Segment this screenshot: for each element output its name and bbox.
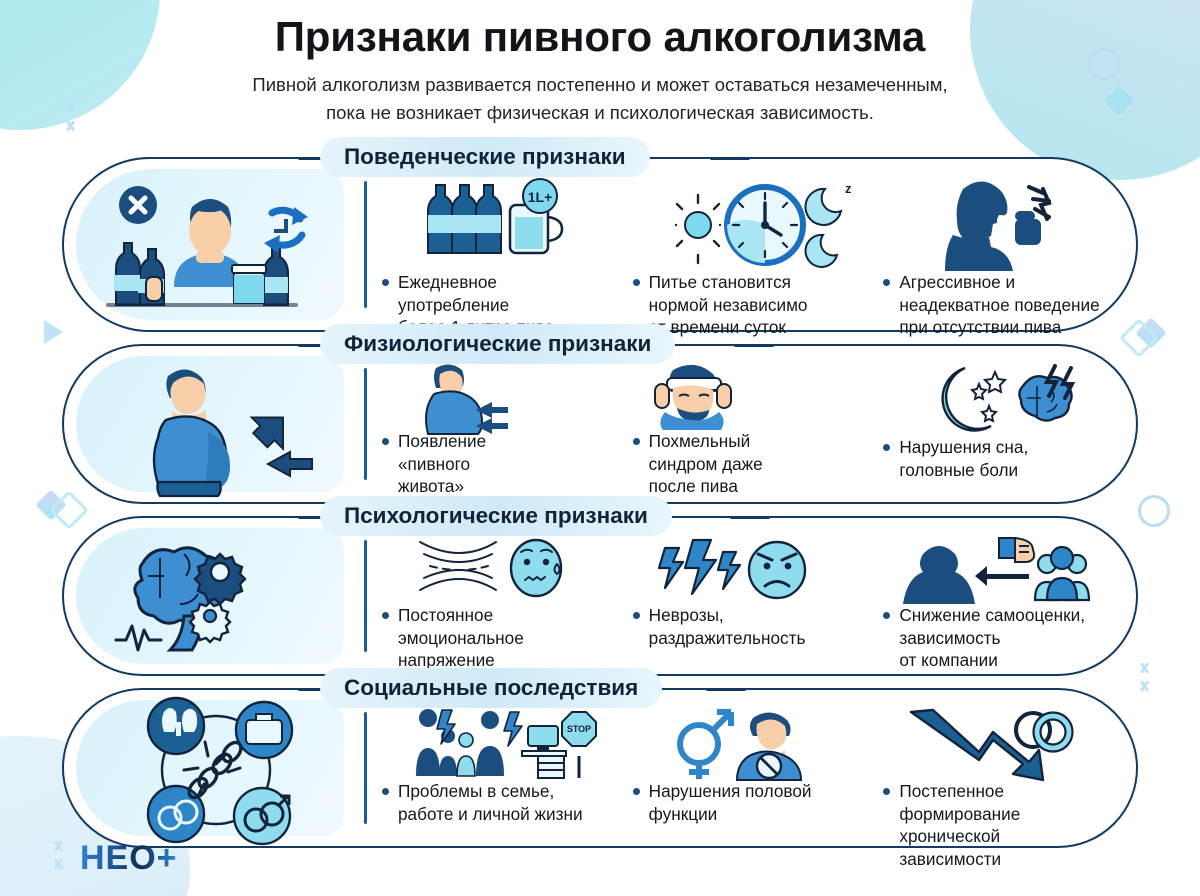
broken-chain-life-circles-icon — [76, 700, 344, 840]
section-title-physiological: Физиологические признаки — [320, 324, 675, 364]
bullet-row: Проблемы в семье, работе и личной жизни — [382, 780, 621, 825]
bullet-dot — [633, 788, 640, 795]
bullet-row: Постоянное эмоциональное напряжение — [382, 604, 621, 672]
bullet-row: Агрессивное и неадекватное поведение при… — [883, 271, 1122, 339]
thumbs-down-crowd-icon — [883, 534, 1122, 604]
triangle-icon — [44, 320, 63, 344]
moon-stars-brain-icon — [883, 362, 1122, 436]
sun-clock-moon-icon: z — [633, 175, 872, 271]
bullet-dot — [382, 279, 389, 286]
svg-text:z: z — [845, 181, 852, 196]
pill-line-right — [710, 157, 750, 160]
svg-text:1L+: 1L+ — [528, 189, 553, 205]
lightning-angry-face-icon — [633, 534, 872, 604]
family-conflict-work-stop-icon: STOP — [382, 706, 621, 780]
man-with-beer-bottles-icon — [76, 169, 344, 324]
item-text: Появление «пивного живота» — [398, 430, 486, 498]
brand-logo: НЕО+ — [80, 839, 178, 878]
section-divider — [364, 181, 367, 308]
item-text: Похмельный синдром даже после пива — [649, 430, 763, 498]
section-card: Появление «пивного живота» — [62, 344, 1138, 504]
section-card: Постоянное эмоциональное напряжение — [62, 516, 1138, 676]
down-arrow-rings-icon — [883, 706, 1122, 780]
item-text: Снижение самооценки, зависимость от комп… — [899, 604, 1085, 672]
list-item: Постепенное формирование хронической зав… — [877, 706, 1128, 840]
item-text: Неврозы, раздражительность — [649, 604, 806, 649]
list-item: Нарушения сна, головные боли — [877, 362, 1128, 496]
section-items: 1L+ Ежедневное употребление более 1 литр… — [376, 175, 1128, 324]
brain-gears-pulse-icon — [76, 528, 344, 668]
list-item: 1L+ Ежедневное употребление более 1 литр… — [376, 175, 627, 324]
bullet-dot — [883, 444, 890, 451]
list-item: Снижение самооценки, зависимость от комп… — [877, 534, 1128, 668]
item-text: Нарушения половой функции — [649, 780, 812, 825]
shouting-man-fist-icon — [883, 175, 1122, 271]
item-text: Агрессивное и неадекватное поведение при… — [899, 271, 1099, 339]
item-text: Нарушения сна, головные боли — [899, 436, 1028, 481]
section-physiological: Появление «пивного живота» — [62, 344, 1138, 504]
bullet-dot — [883, 612, 890, 619]
subtitle-line-1: Пивной алкоголизм развивается постепенно… — [150, 71, 1050, 99]
section-divider — [364, 712, 367, 824]
section-title-social: Социальные последствия — [320, 668, 662, 708]
section-card: 1L+ Ежедневное употребление более 1 литр… — [62, 157, 1138, 332]
beer-belly-arrows-icon — [382, 362, 621, 430]
bullet-row: Снижение самооценки, зависимость от комп… — [883, 604, 1122, 672]
section-items: Постоянное эмоциональное напряжение — [376, 534, 1128, 668]
bullet-row: Постепенное формирование хронической зав… — [883, 780, 1122, 871]
item-text: Постепенное формирование хронической зав… — [899, 780, 1020, 871]
bullet-dot — [883, 279, 890, 286]
pill-line-right — [706, 688, 746, 691]
item-text: Постоянное эмоциональное напряжение — [398, 604, 524, 672]
svg-text:STOP: STOP — [567, 724, 591, 734]
gender-symbol-blocked-man-icon — [633, 706, 872, 780]
item-text: Проблемы в семье, работе и личной жизни — [398, 780, 583, 825]
beer-bottles-1l-mug-icon: 1L+ — [382, 175, 621, 271]
section-title-psychological: Психологические признаки — [320, 496, 672, 536]
bullet-row: Нарушения сна, головные боли — [883, 436, 1122, 481]
hero-panel — [76, 169, 344, 320]
item-text: Питье становится нормой независимо от вр… — [649, 271, 808, 339]
list-item: STOP Проблемы в семье, работе и личной ж… — [376, 706, 627, 840]
infographic-canvas: Признаки пивного алкоголизма Пивной алко… — [0, 0, 1200, 896]
subtitle-line-2: пока не возникает физическая и психологи… — [150, 99, 1050, 127]
list-item: Нарушения половой функции — [627, 706, 878, 840]
list-item: z Питье становится нормой независимо от … — [627, 175, 878, 324]
section-divider — [364, 540, 367, 652]
section-title-behavioral: Поведенческие признаки — [320, 137, 650, 177]
bullet-dot — [382, 788, 389, 795]
page-title: Признаки пивного алкоголизма — [0, 14, 1200, 59]
hero-panel — [76, 700, 344, 836]
list-item: Постоянное эмоциональное напряжение — [376, 534, 627, 668]
bullet-dot — [633, 438, 640, 445]
stress-worried-face-icon — [382, 534, 621, 604]
section-behavioral: 1L+ Ежедневное употребление более 1 литр… — [62, 157, 1138, 332]
section-social: STOP Проблемы в семье, работе и личной ж… — [62, 688, 1138, 848]
bullet-dot — [382, 438, 389, 445]
page-subtitle: Пивной алкоголизм развивается постепенно… — [150, 71, 1050, 127]
section-divider — [364, 368, 367, 480]
bullet-dot — [633, 612, 640, 619]
list-item: Появление «пивного живота» — [376, 362, 627, 496]
hangover-headache-man-icon — [633, 362, 872, 430]
bullet-dot — [382, 612, 389, 619]
header: Признаки пивного алкоголизма Пивной алко… — [0, 14, 1200, 127]
bullet-row: Появление «пивного живота» — [382, 430, 621, 498]
list-item: Неврозы, раздражительность — [627, 534, 878, 668]
list-item: Похмельный синдром даже после пива — [627, 362, 878, 496]
pill-line-right — [730, 516, 770, 519]
section-card: STOP Проблемы в семье, работе и личной ж… — [62, 688, 1138, 848]
pill-line-right — [734, 344, 774, 347]
bullet-row: Похмельный синдром даже после пива — [633, 430, 872, 498]
section-items: Появление «пивного живота» — [376, 362, 1128, 496]
section-psychological: Постоянное эмоциональное напряжение — [62, 516, 1138, 676]
bullet-row: Неврозы, раздражительность — [633, 604, 872, 649]
section-items: STOP Проблемы в семье, работе и личной ж… — [376, 706, 1128, 840]
hero-panel — [76, 528, 344, 664]
bullet-row: Нарушения половой функции — [633, 780, 872, 825]
beer-belly-man-icon — [76, 356, 344, 496]
bullet-dot — [633, 279, 640, 286]
bullet-dot — [883, 788, 890, 795]
list-item: Агрессивное и неадекватное поведение при… — [877, 175, 1128, 324]
hero-panel — [76, 356, 344, 492]
ring-icon — [1138, 495, 1170, 527]
